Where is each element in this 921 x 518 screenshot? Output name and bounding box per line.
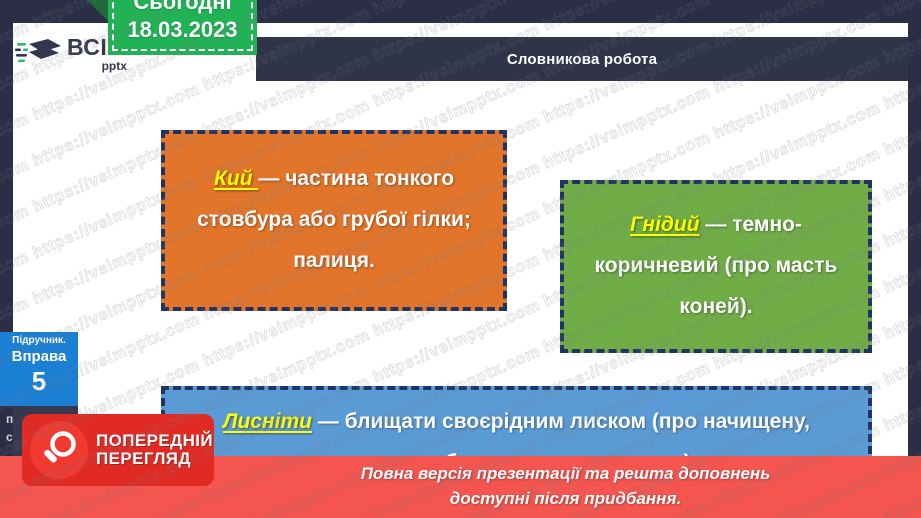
- purchase-notice-line1: Повна версія презентації та решта доповн…: [210, 462, 921, 487]
- graduation-cap-icon: [15, 37, 63, 71]
- word-term-kyi: Кий: [214, 167, 258, 190]
- magnifier-icon: [30, 421, 88, 479]
- page-title: Словникова робота: [507, 51, 657, 68]
- lesson-tag-number: 5: [0, 367, 78, 396]
- purchase-notice-text: Повна версія презентації та решта доповн…: [210, 459, 921, 511]
- slide-title-bar: Словникова робота: [256, 37, 908, 81]
- preview-badge-line1: ПОПЕРЕДНІЙ: [96, 432, 213, 450]
- preview-badge[interactable]: ПОПЕРЕДНІЙ ПЕРЕГЛЯД: [22, 414, 214, 486]
- today-date-badge: Сьогодні 18.03.2023: [108, 0, 257, 55]
- preview-badge-text: ПОПЕРЕДНІЙ ПЕРЕГЛЯД: [96, 432, 213, 469]
- lesson-tag-label: Вправа: [0, 347, 78, 367]
- lesson-exercise-tag: Підручник. Вправа 5: [0, 332, 78, 406]
- purchase-notice-line2: доступні після придбання.: [210, 487, 921, 512]
- word-term-hnidyi: Гнідий: [630, 213, 700, 236]
- logo-subtext: pptx: [67, 60, 127, 72]
- word-card-hnidyi: Гнідий — темно-коричневий (про масть кон…: [560, 180, 872, 353]
- preview-badge-line2: ПЕРЕГЛЯД: [96, 450, 213, 468]
- today-label: Сьогодні: [133, 0, 231, 16]
- today-date: 18.03.2023: [127, 16, 237, 44]
- word-term-lysnity: Лисніти: [223, 410, 312, 433]
- slide-viewer: ВСІМ pptx Словникова робота Кий — частин…: [0, 0, 921, 518]
- word-card-kyi: Кий — частина тонкого стовбура або грубо…: [161, 130, 507, 311]
- lesson-tag-source: Підручник.: [0, 335, 78, 347]
